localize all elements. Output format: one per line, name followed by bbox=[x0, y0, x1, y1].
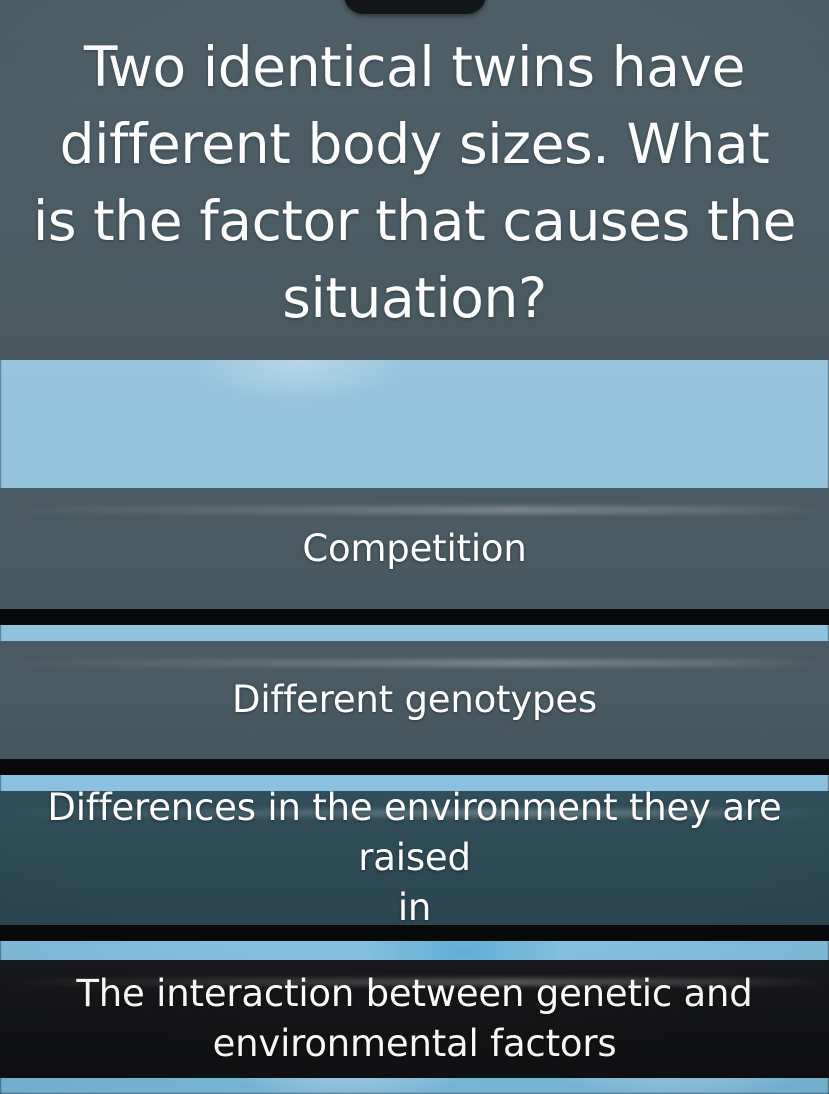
card-gloss-highlight bbox=[0, 659, 829, 667]
question-panel: Two identical twins have different body … bbox=[0, 0, 829, 360]
answer-option-label-2: Differences in the environment they are … bbox=[0, 791, 829, 925]
card-gloss-highlight bbox=[0, 506, 829, 514]
answer-option-1[interactable]: Different genotypes bbox=[0, 641, 829, 759]
answer-option-0[interactable]: Competition bbox=[0, 488, 829, 609]
question-text: Two identical twins have different body … bbox=[20, 29, 810, 337]
answer-option-3[interactable]: The interaction between genetic and envi… bbox=[0, 960, 829, 1078]
gutter-divider-2 bbox=[0, 759, 829, 775]
gutter-divider-3 bbox=[0, 925, 829, 941]
quiz-screen: Two identical twins have different body … bbox=[0, 0, 829, 1094]
answer-option-label-1: Different genotypes bbox=[0, 675, 829, 725]
answer-option-label-3: The interaction between genetic and envi… bbox=[0, 969, 829, 1069]
answer-option-2[interactable]: Differences in the environment they are … bbox=[0, 791, 829, 925]
gutter-divider-1 bbox=[0, 609, 829, 625]
answer-option-label-0: Competition bbox=[0, 524, 829, 574]
camera-notch-icon bbox=[344, 0, 486, 14]
